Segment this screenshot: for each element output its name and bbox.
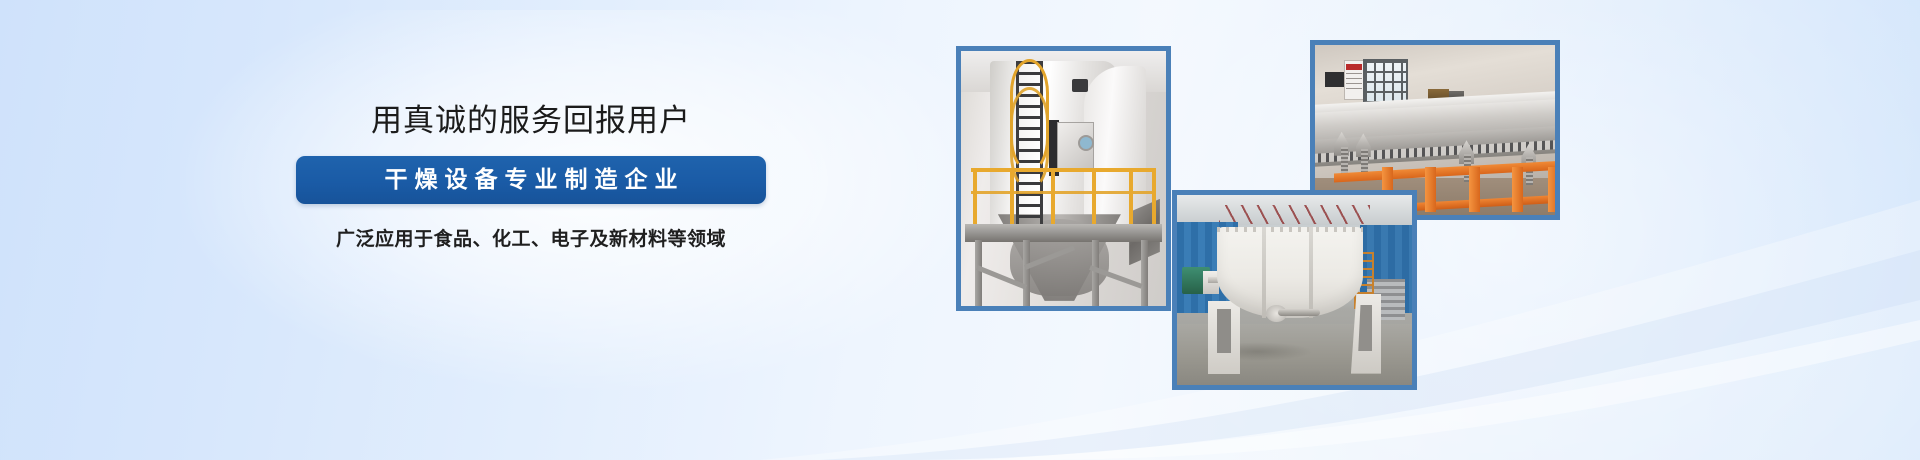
banner-headline: 用真诚的服务回报用户	[296, 104, 766, 140]
banner-tagline-pill: 干燥设备专业制造企业	[296, 156, 766, 204]
banner-text-block: 用真诚的服务回报用户 干燥设备专业制造企业 广泛应用于食品、化工、电子及新材料等…	[296, 104, 766, 251]
photo-horizontal-ribbon-mixer	[1172, 190, 1417, 390]
banner-subline: 广泛应用于食品、化工、电子及新材料等领域	[296, 224, 766, 251]
hero-banner: 用真诚的服务回报用户 干燥设备专业制造企业 广泛应用于食品、化工、电子及新材料等…	[0, 0, 1920, 460]
photo-spray-drying-tower	[956, 46, 1171, 311]
